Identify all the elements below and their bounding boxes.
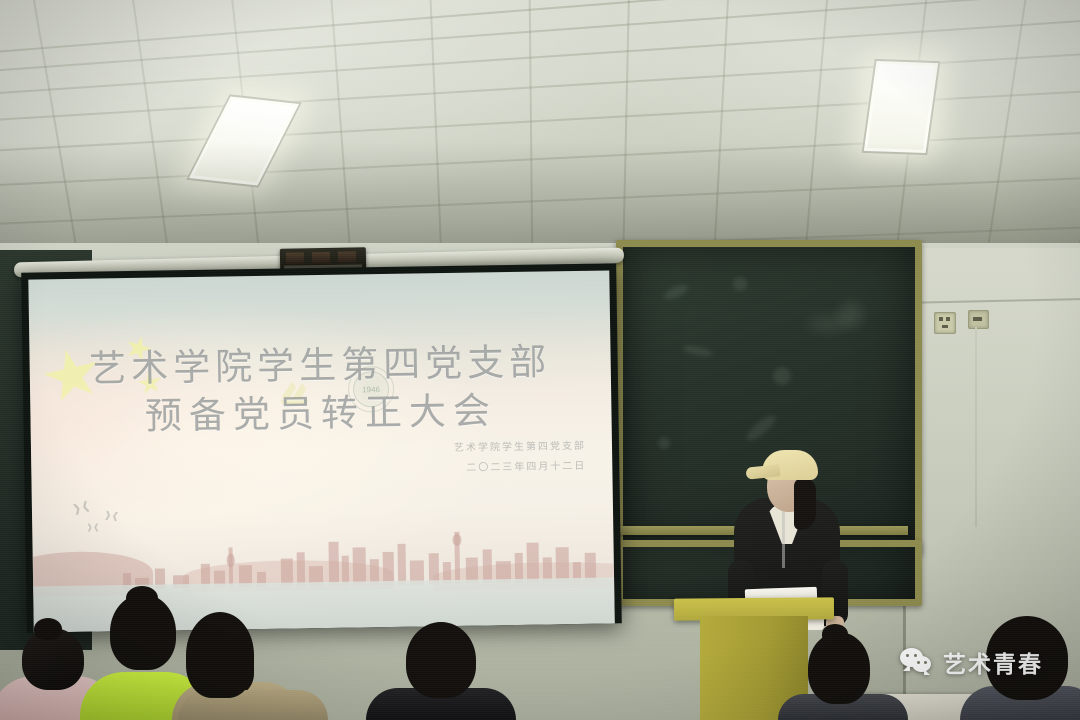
ceiling [0, 0, 1080, 258]
slide-subtitle-organization: 艺术学院学生第四党支部 [454, 437, 586, 454]
slide-subtitle-date: 二〇二三年四月十二日 [466, 457, 586, 474]
projection-screen: 1946 艺术学院学生第四党支部 预备党员转正大会 艺术学院学生第四党支部 二〇… [21, 263, 622, 632]
audience-bun-2 [126, 586, 158, 610]
projected-slide: 1946 艺术学院学生第四党支部 预备党员转正大会 艺术学院学生第四党支部 二〇… [28, 270, 614, 632]
audience-head-4 [186, 612, 254, 698]
wall-socket-left [934, 312, 956, 334]
audience-head-5 [406, 622, 476, 698]
slide-title-line-2: 预备党员转正大会 [30, 378, 612, 441]
wechat-icon [900, 648, 934, 676]
wechat-watermark: 艺术青春 [900, 645, 1043, 679]
classroom-photo-scene: 1946 艺术学院学生第四党支部 预备党员转正大会 艺术学院学生第四党支部 二〇… [0, 0, 1080, 720]
audience-bun-6 [822, 624, 848, 644]
watermark-label: 艺术青春 [943, 645, 1043, 679]
wall-socket-right [968, 310, 989, 329]
wall-cable [975, 327, 977, 527]
audience-bun-1 [34, 618, 62, 640]
